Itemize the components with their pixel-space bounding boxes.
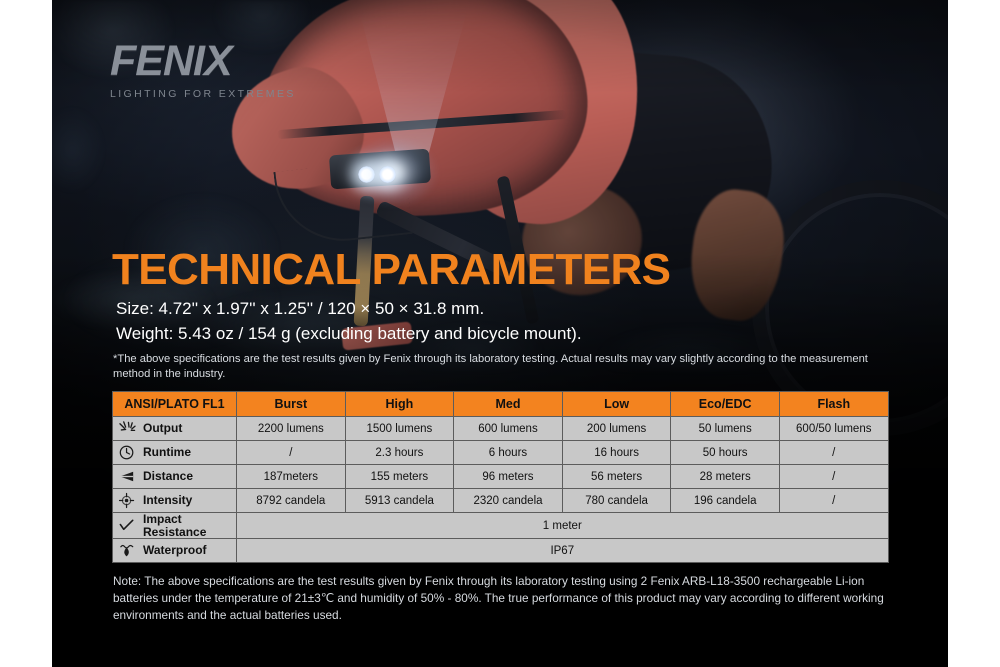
waterproof-drop-icon [117,542,138,559]
cell-intensity-low: 780 candela [562,489,671,513]
cell-distance-med: 96 meters [454,465,563,489]
table-row: Intensity 8792 candela 5913 candela 2320… [113,489,889,513]
cell-distance-burst: 187meters [237,465,346,489]
spec-disclaimer: *The above specifications are the test r… [113,352,903,382]
impact-resistance-icon [117,517,138,534]
row-label-waterproof: Waterproof [113,539,237,563]
row-label-text: Waterproof [143,544,207,557]
technical-parameters-table: ANSI/PLATO FL1 Burst High Med Low Eco/ED… [112,391,889,563]
cell-intensity-med: 2320 candela [454,489,563,513]
col-header-high: High [345,392,454,417]
row-label-text-line2: Resistance [143,525,206,539]
cell-runtime-flash: / [779,441,888,465]
row-label-output: Output [113,417,237,441]
cell-runtime-high: 2.3 hours [345,441,454,465]
cell-intensity-eco: 196 candela [671,489,780,513]
cell-output-low: 200 lumens [562,417,671,441]
cell-output-eco: 50 lumens [671,417,780,441]
row-label-intensity: Intensity [113,489,237,513]
cell-runtime-med: 6 hours [454,441,563,465]
cell-runtime-eco: 50 hours [671,441,780,465]
product-spec-banner: FENIX LIGHTING FOR EXTREMES TECHNICAL PA… [0,0,1000,667]
cell-runtime-burst: / [237,441,346,465]
cell-intensity-burst: 8792 candela [237,489,346,513]
row-label-text: Intensity [143,494,192,507]
cell-distance-low: 56 meters [562,465,671,489]
cell-runtime-low: 16 hours [562,441,671,465]
cell-output-high: 1500 lumens [345,417,454,441]
row-label-text: Distance [143,470,193,483]
col-header-burst: Burst [237,392,346,417]
spec-weight: Weight: 5.43 oz / 154 g (excluding batte… [116,324,582,344]
table-row: Waterproof IP67 [113,539,889,563]
spec-size: Size: 4.72'' x 1.97'' x 1.25'' / 120 × 5… [116,299,484,319]
col-header-med: Med [454,392,563,417]
cell-output-med: 600 lumens [454,417,563,441]
cell-distance-high: 155 meters [345,465,454,489]
row-label-text: Runtime [143,446,191,459]
cell-output-burst: 2200 lumens [237,417,346,441]
table-row: Runtime / 2.3 hours 6 hours 16 hours 50 … [113,441,889,465]
row-label-text: Output [143,422,182,435]
table-row: Output 2200 lumens 1500 lumens 600 lumen… [113,417,889,441]
cell-distance-eco: 28 meters [671,465,780,489]
cell-output-flash: 600/50 lumens [779,417,888,441]
col-header-flash: Flash [779,392,888,417]
col-header-ansi: ANSI/PLATO FL1 [113,392,237,417]
row-label-distance: Distance [113,465,237,489]
col-header-low: Low [562,392,671,417]
clock-icon [117,444,138,461]
row-label-impact-resistance: Impact Resistance [113,513,237,539]
beam-distance-icon [117,468,138,485]
col-header-eco-edc: Eco/EDC [671,392,780,417]
cell-intensity-flash: / [779,489,888,513]
cell-intensity-high: 5913 candela [345,489,454,513]
table-row: Impact Resistance 1 meter [113,513,889,539]
cell-waterproof-value: IP67 [237,539,889,563]
table-row: Distance 187meters 155 meters 96 meters … [113,465,889,489]
technical-parameters-table-wrap: ANSI/PLATO FL1 Burst High Med Low Eco/ED… [112,391,888,563]
sun-rays-icon [117,420,138,437]
cell-distance-flash: / [779,465,888,489]
footer-note: Note: The above specifications are the t… [113,573,908,624]
logo-tagline: LIGHTING FOR EXTREMES [110,88,296,100]
logo-wordmark: FENIX [110,40,296,83]
intensity-crosshair-icon [117,492,138,509]
cell-impact-resistance-value: 1 meter [237,513,889,539]
table-header-row: ANSI/PLATO FL1 Burst High Med Low Eco/ED… [113,392,889,417]
row-label-runtime: Runtime [113,441,237,465]
page-title: TECHNICAL PARAMETERS [112,248,670,292]
fenix-logo: FENIX LIGHTING FOR EXTREMES [110,40,296,100]
